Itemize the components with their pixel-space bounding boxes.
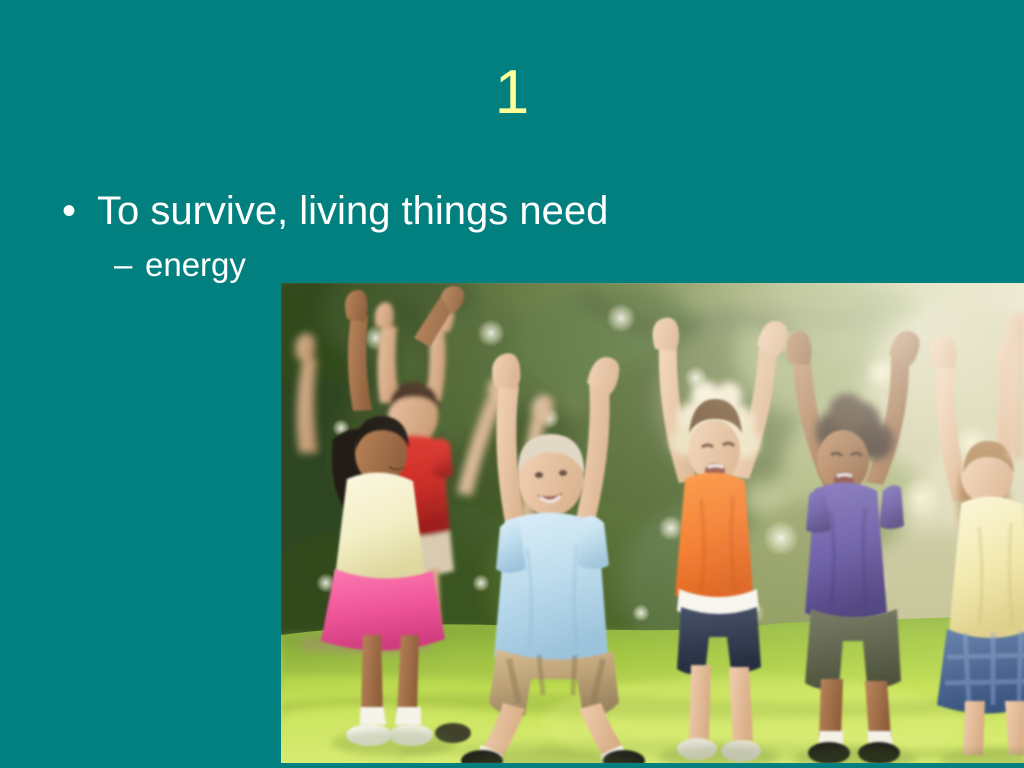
presentation-slide: 1 • To survive, living things need – ene… (0, 0, 1024, 768)
bullet-level-2-text: energy (145, 246, 246, 283)
bullet-level-1-text: To survive, living things need (97, 189, 608, 233)
children-jumping-in-park-photo (281, 283, 1024, 763)
slide-title: 1 (0, 58, 1024, 128)
sun-haze-overlay (281, 283, 1024, 763)
bullet-level-1: • To survive, living things need (0, 186, 780, 236)
slide-body-list: • To survive, living things need – energ… (0, 186, 780, 285)
bullet-level-2: – energy (0, 245, 780, 285)
bullet-marker-dash-icon: – (114, 245, 132, 285)
photo-illustration (281, 283, 1024, 763)
bullet-marker-dot-icon: • (62, 186, 76, 236)
